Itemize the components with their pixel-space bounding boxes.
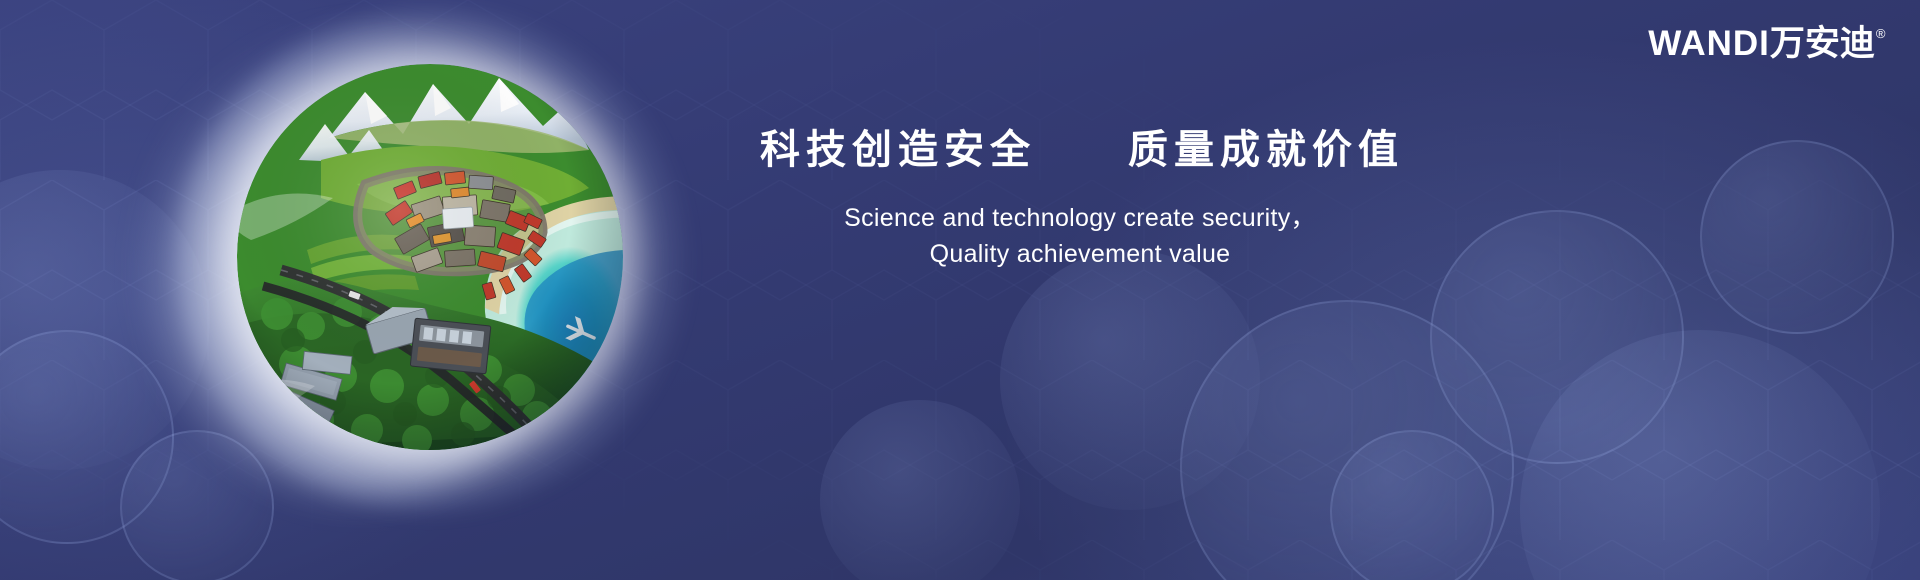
- page-title: 科技创造安全 质量成就价值: [760, 128, 1400, 172]
- registered-trademark-icon: ®: [1876, 27, 1886, 40]
- logo-cjk-text: 万安迪: [1770, 26, 1875, 61]
- promo-banner: WANDI 万安迪 ® 科技创造安全 质量成就价值 Science and te…: [0, 0, 1920, 580]
- bokeh-circle: [1520, 330, 1880, 580]
- banner-copy: 科技创造安全 质量成就价值 Science and technology cre…: [760, 128, 1400, 273]
- bokeh-circle: [1180, 300, 1514, 580]
- globe-illustration: [215, 40, 645, 480]
- bokeh-circle: [1000, 250, 1260, 510]
- bokeh-circle: [0, 330, 174, 544]
- brand-logo[interactable]: WANDI 万安迪 ®: [1648, 26, 1886, 61]
- bokeh-circle: [1430, 210, 1684, 464]
- bokeh-circle: [1330, 430, 1494, 580]
- subtitle-line-1: Science and technology create security，: [760, 200, 1400, 236]
- logo-latin-text: WANDI: [1648, 26, 1770, 61]
- subtitle: Science and technology create security， …: [760, 200, 1400, 273]
- bokeh-circle: [820, 400, 1020, 580]
- bokeh-circle: [1700, 140, 1894, 334]
- tiny-planet-image: [237, 64, 623, 450]
- subtitle-line-2: Quality achievement value: [760, 236, 1400, 272]
